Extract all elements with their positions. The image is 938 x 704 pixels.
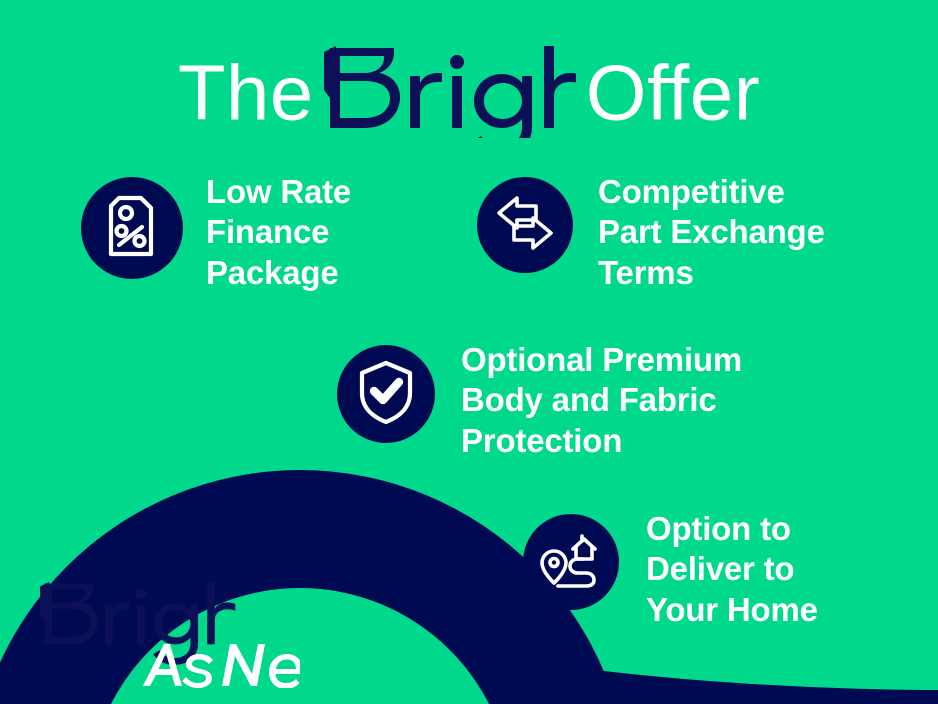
feature-label: Optional Premium Body and Fabric Protect…	[461, 340, 742, 461]
feature-icon-circle	[81, 177, 183, 279]
brand-logo-asnew	[143, 644, 300, 688]
title-suffix: Offer	[586, 49, 760, 137]
feature-label: Low Rate Finance Package	[206, 172, 351, 293]
promotional-poster: The Offer	[0, 0, 938, 704]
brand-logo-bright-as-new	[40, 578, 300, 688]
page-title: The Offer	[0, 44, 938, 141]
feature-option-to-deliver-to-your-home: Option to Deliver to Your Home	[523, 514, 818, 630]
feature-optional-premium-body-and-fabric-protection: Optional Premium Body and Fabric Protect…	[337, 345, 742, 461]
feature-label: Competitive Part Exchange Terms	[598, 172, 825, 293]
shield-check-icon	[358, 360, 414, 429]
feature-icon-circle	[337, 345, 435, 443]
feature-label: Option to Deliver to Your Home	[646, 509, 818, 630]
feature-icon-circle	[523, 514, 619, 610]
navy-corner-wedge	[503, 656, 938, 704]
feature-competitive-part-exchange-terms: Competitive Part Exchange Terms	[477, 177, 825, 293]
route-home-delivery-icon	[540, 531, 602, 594]
price-tag-percent-icon	[103, 195, 161, 262]
title-prefix: The	[178, 49, 314, 137]
feature-icon-circle	[477, 177, 573, 273]
feature-low-rate-finance-package: Low Rate Finance Package	[81, 177, 351, 293]
brand-logo-bright	[40, 582, 235, 665]
exchange-arrows-icon	[496, 196, 554, 255]
bright-logotype-title	[324, 46, 576, 143]
